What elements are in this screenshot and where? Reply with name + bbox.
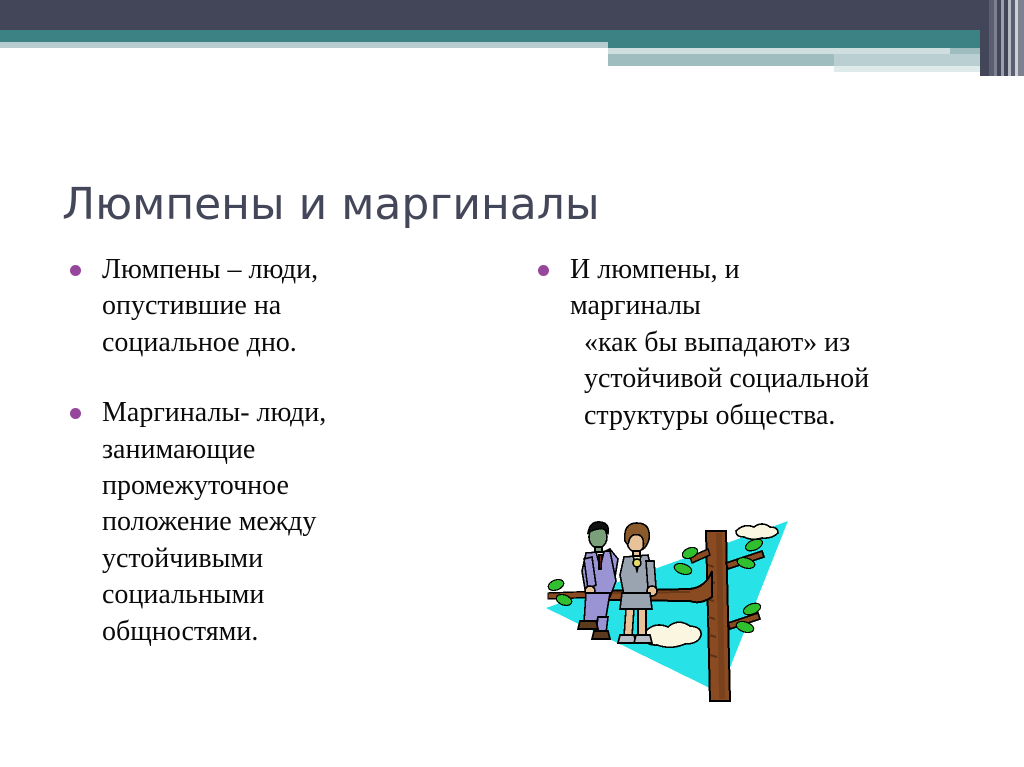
deco-band-pale-step-2 <box>608 54 834 66</box>
deco-band-pale-step-1 <box>608 48 950 54</box>
bullet-item: Люмпены – люди,опустившие насоциальное д… <box>60 252 480 361</box>
bullet-subline: структуры общества. <box>570 398 980 434</box>
bullet-subline: устойчивой социальной <box>570 361 980 397</box>
right-text-column: И люмпены, имаргиналы«как бы выпадают» и… <box>528 252 980 434</box>
people-on-tree-branch-clipart <box>540 505 802 705</box>
bullet-line: Люмпены – люди, <box>102 252 480 288</box>
bullet-line: опустившие на <box>102 288 480 324</box>
bullet-dot-icon <box>70 265 81 276</box>
deco-vertical-stripe-2 <box>994 0 997 76</box>
bullet-dot-icon <box>70 408 81 419</box>
deco-vertical-stripe-0 <box>980 0 989 76</box>
left-text-column: Люмпены – люди,опустившие насоциальное д… <box>60 252 480 650</box>
bullet-line: занимающие <box>102 432 480 468</box>
deco-band-pale-step-3 <box>834 66 1024 72</box>
slide: Люмпены и маргиналы Люмпены – люди,опуст… <box>0 0 1024 767</box>
bullet-line: положение между <box>102 504 480 540</box>
deco-vertical-stripes <box>980 0 1024 76</box>
deco-band-dark-slate <box>0 0 1024 30</box>
bullet-line: И люмпены, и <box>570 252 980 288</box>
bullet-item: И люмпены, имаргиналы«как бы выпадают» и… <box>528 252 980 434</box>
deco-band-pale-step-1b <box>950 48 1024 54</box>
bullet-item: Маргиналы- люди,занимающиепромежуточноеп… <box>60 395 480 650</box>
deco-vertical-stripe-9 <box>1018 0 1024 76</box>
bullet-line: Маргиналы- люди, <box>102 395 480 431</box>
right-bullet-list: И люмпены, имаргиналы«как бы выпадают» и… <box>528 252 980 434</box>
bullet-line: промежуточное <box>102 468 480 504</box>
page-title: Люмпены и маргиналы <box>62 181 962 229</box>
bullet-dot-icon <box>538 265 549 276</box>
deco-vertical-stripe-7 <box>1011 0 1015 76</box>
bullet-line: социальными <box>102 577 480 613</box>
bullet-subline: «как бы выпадают» из <box>570 325 980 361</box>
deco-band-pale-left <box>0 42 608 48</box>
deco-vertical-stripe-5 <box>1004 0 1008 76</box>
deco-vertical-stripe-8 <box>1015 0 1018 76</box>
bullet-line: маргиналы <box>570 288 980 324</box>
deco-band-teal-step <box>608 42 1024 48</box>
bullet-line: устойчивыми <box>102 541 480 577</box>
deco-band-teal <box>0 30 1024 42</box>
bullet-line: общностями. <box>102 614 480 650</box>
deco-vertical-stripe-1 <box>989 0 994 76</box>
deco-vertical-stripe-4 <box>1001 0 1004 76</box>
left-bullet-list: Люмпены – люди,опустившие насоциальное д… <box>60 252 480 650</box>
deco-vertical-stripe-3 <box>997 0 1001 76</box>
bullet-line: социальное дно. <box>102 325 480 361</box>
deco-band-pale-step-2b <box>834 54 1024 66</box>
header-decoration <box>0 0 1024 90</box>
deco-vertical-stripe-6 <box>1008 0 1011 76</box>
